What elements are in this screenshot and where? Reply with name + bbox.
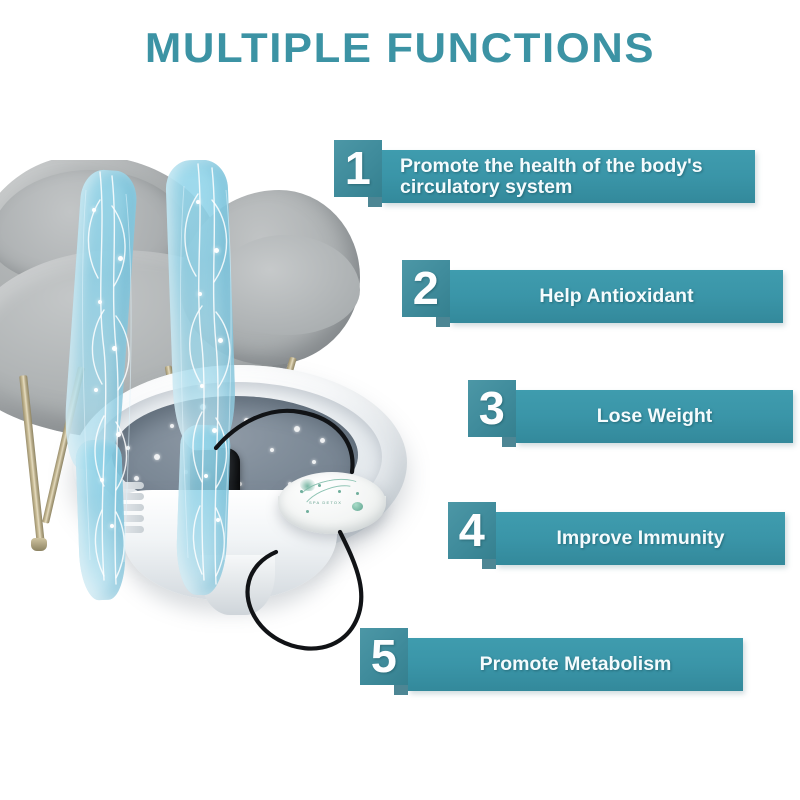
benefit-tab-5 — [394, 685, 408, 695]
benefit-number-block-4: 4 — [448, 502, 496, 559]
benefit-label-bar-2: Help Antioxidant — [450, 270, 783, 323]
benefit-number-5: 5 — [371, 633, 397, 679]
benefit-label-bar-3: Lose Weight — [516, 390, 793, 443]
benefit-number-block-3: 3 — [468, 380, 516, 437]
benefit-label-3: Lose Weight — [597, 406, 713, 427]
benefit-number-block-2: 2 — [402, 260, 450, 317]
benefit-label-1: Promote the health of the body's circula… — [400, 156, 703, 198]
benefit-number-2: 2 — [413, 265, 439, 311]
benefit-number-3: 3 — [479, 385, 505, 431]
benefit-label-4: Improve Immunity — [557, 528, 725, 549]
benefit-number-1: 1 — [345, 145, 371, 191]
benefit-label-5: Promote Metabolism — [480, 654, 672, 675]
product-photo: SPA DETOX — [0, 160, 430, 660]
benefit-label-2: Help Antioxidant — [539, 286, 693, 307]
page-title: MULTIPLE FUNCTIONS — [0, 24, 800, 72]
benefit-tab-2 — [436, 317, 450, 327]
benefit-label-bar-5: Promote Metabolism — [408, 638, 743, 691]
benefit-number-4: 4 — [459, 507, 485, 553]
benefit-tab-4 — [482, 559, 496, 569]
benefit-tab-1 — [368, 197, 382, 207]
power-cord-icon — [0, 160, 430, 660]
benefit-label-bar-4: Improve Immunity — [496, 512, 785, 565]
benefit-number-block-5: 5 — [360, 628, 408, 685]
infographic-canvas: MULTIPLE FUNCTIONS — [0, 0, 800, 800]
benefit-number-block-1: 1 — [334, 140, 382, 197]
benefit-tab-3 — [502, 437, 516, 447]
benefit-label-bar-1: Promote the health of the body's circula… — [382, 150, 755, 203]
